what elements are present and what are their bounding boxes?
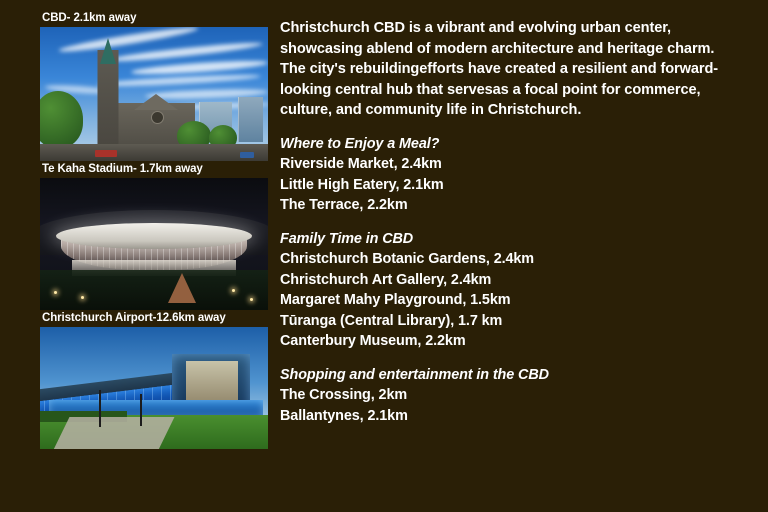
list-item: Riverside Market, 2.4km — [280, 154, 742, 175]
section-where-to-enjoy-a-meal: Where to Enjoy a Meal? Riverside Market,… — [280, 134, 742, 216]
street-light — [232, 289, 235, 292]
list-item: Little High Eatery, 2.1km — [280, 175, 742, 196]
list-item: Tūranga (Central Library), 1.7 km — [280, 311, 742, 332]
tree — [40, 91, 83, 147]
photo-caption-stadium: Te Kaha Stadium- 1.7km away — [40, 161, 268, 178]
cathedral-spire — [100, 38, 116, 64]
cathedral-gable — [134, 94, 178, 110]
section-heading: Family Time in CBD — [280, 229, 742, 250]
intro-paragraph: Christchurch CBD is a vibrant and evolvi… — [280, 18, 742, 121]
list-item: Ballantynes, 2.1km — [280, 406, 742, 427]
slide-root: CBD- 2.1km away — [0, 0, 768, 512]
photo-caption-cbd: CBD- 2.1km away — [40, 10, 268, 27]
photo-block-airport: Christchurch Airport-12.6km away — [40, 310, 268, 449]
blue-vehicle — [240, 152, 254, 158]
a-frame-building — [168, 273, 196, 303]
list-item: Margaret Mahy Playground, 1.5km — [280, 290, 742, 311]
list-item: The Terrace, 2.2km — [280, 195, 742, 216]
red-vehicle — [95, 150, 117, 157]
photo-column: CBD- 2.1km away — [40, 10, 268, 449]
street-light — [250, 298, 253, 301]
photo-block-stadium: Te Kaha Stadium- 1.7km away — [40, 161, 268, 310]
list-item: Canterbury Museum, 2.2km — [280, 331, 742, 352]
section-heading: Where to Enjoy a Meal? — [280, 134, 742, 155]
street-light — [54, 291, 57, 294]
stadium-illuminated-roof — [56, 223, 252, 249]
photo-caption-airport: Christchurch Airport-12.6km away — [40, 310, 268, 327]
section-shopping-and-entertainment: Shopping and entertainment in the CBD Th… — [280, 365, 742, 427]
section-heading: Shopping and entertainment in the CBD — [280, 365, 742, 386]
lamp-post — [140, 394, 142, 426]
plaza-ground — [40, 144, 268, 161]
cathedral-tower — [98, 50, 119, 146]
list-item: Christchurch Art Gallery, 2.4km — [280, 270, 742, 291]
text-column: Christchurch CBD is a vibrant and evolvi… — [280, 18, 742, 426]
list-item: The Crossing, 2km — [280, 385, 742, 406]
office-building — [238, 97, 263, 143]
list-item: Christchurch Botanic Gardens, 2.4km — [280, 249, 742, 270]
christchurch-cathedral-photo — [40, 27, 268, 161]
photo-block-cbd: CBD- 2.1km away — [40, 10, 268, 161]
lamp-post — [99, 390, 101, 427]
te-kaha-stadium-photo — [40, 178, 268, 310]
terminal-lit-interior — [186, 361, 238, 405]
walkway-path — [54, 417, 174, 449]
christchurch-airport-photo — [40, 327, 268, 449]
section-family-time-in-cbd: Family Time in CBD Christchurch Botanic … — [280, 229, 742, 352]
